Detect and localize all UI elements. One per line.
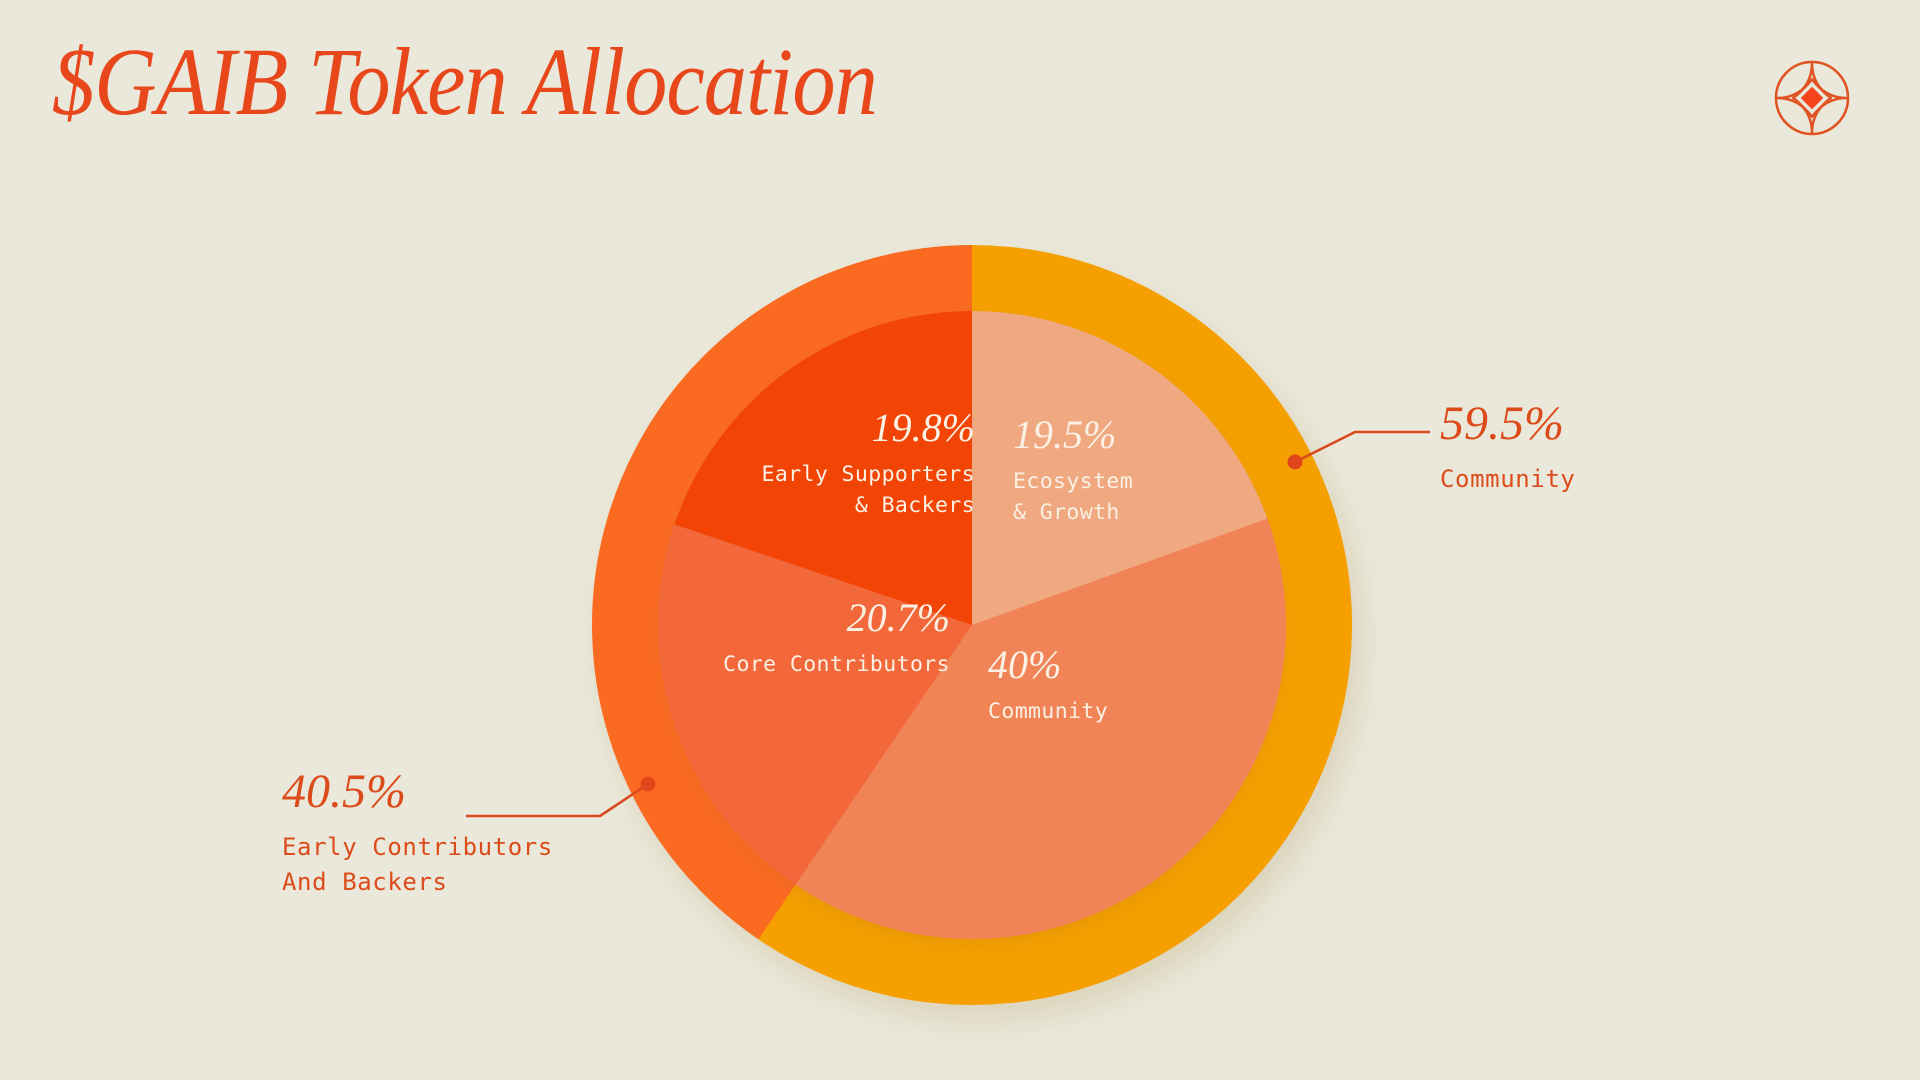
- slice-percent: 19.5%: [1013, 415, 1313, 455]
- slice-name: Ecosystem & Growth: [1013, 467, 1313, 528]
- callout-community: 59.5% Community: [1440, 400, 1820, 497]
- slice-label-early-supporters-and-backers: 19.8% Early Supporters & Backers: [615, 408, 975, 521]
- callout-percent: 59.5%: [1440, 400, 1820, 448]
- slice-percent: 19.8%: [615, 408, 975, 448]
- callout-name: Community: [1440, 462, 1820, 497]
- token-allocation-pie-chart: 19.8% Early Supporters & Backers 19.5% E…: [0, 0, 1920, 1080]
- callout-early-contributors-and-backers: 40.5% Early Contributors And Backers: [282, 768, 682, 900]
- slice-label-ecosystem-and-growth: 19.5% Ecosystem & Growth: [1013, 415, 1313, 528]
- slice-name: Early Supporters & Backers: [615, 460, 975, 521]
- slice-percent: 40%: [988, 645, 1288, 685]
- slice-label-community: 40% Community: [988, 645, 1288, 728]
- slice-name: Community: [988, 697, 1288, 728]
- slice-label-core-contributors: 20.7% Core Contributors: [560, 598, 950, 681]
- callout-name: Early Contributors And Backers: [282, 830, 682, 900]
- callout-percent: 40.5%: [282, 768, 682, 816]
- slice-name: Core Contributors: [560, 650, 950, 681]
- slice-percent: 20.7%: [560, 598, 950, 638]
